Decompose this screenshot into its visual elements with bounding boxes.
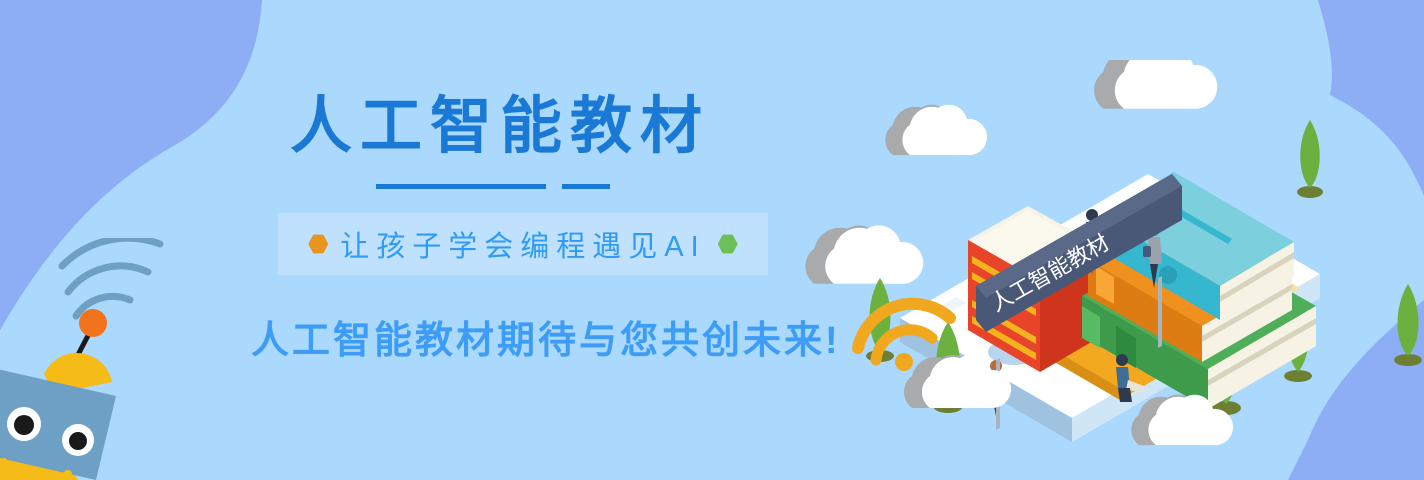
robot-antenna-ball [79, 309, 107, 337]
tree-icon [1284, 298, 1312, 382]
robot-face [0, 366, 116, 480]
device-platform [900, 174, 1320, 442]
cloud-icon [805, 225, 923, 283]
robot-icon [0, 238, 232, 480]
hexagon-icon [718, 234, 738, 254]
cloud-icon [885, 105, 987, 155]
wave-top-right [1318, 0, 1424, 196]
robot-mouth [4, 462, 68, 480]
page-title: 人工智能教材 [290, 96, 710, 158]
headline-block: 人工智能教材 让孩子学会编程遇见AI 人工智能教材期待与您共创未来! [0, 0, 1060, 480]
background-waves [0, 0, 1424, 480]
cloud-icon [1094, 60, 1217, 109]
tree-icon [933, 322, 963, 413]
wifi-icon [858, 304, 950, 371]
person-figure [1116, 354, 1144, 402]
robot-eye [7, 407, 41, 441]
signboard-text: 人工智能教材 [986, 230, 1113, 317]
signboard: 人工智能教材 [976, 174, 1182, 430]
tree-icon [1394, 284, 1422, 366]
person-figure [1143, 224, 1162, 288]
hexagon-icon [308, 234, 328, 254]
subtitle-banner: 让孩子学会编程遇见AI [278, 213, 768, 275]
robot-eye [62, 424, 94, 456]
wave-bottom-right [1288, 300, 1424, 480]
robot-signal-icon [62, 238, 160, 316]
title-divider-short [562, 184, 610, 189]
robot-antenna [70, 328, 92, 370]
title-divider-long [376, 184, 546, 189]
wave-top-left [0, 0, 262, 330]
robot-body [0, 428, 78, 480]
subtitle-text: 让孩子学会编程遇见AI [340, 223, 705, 265]
person-figure [990, 360, 1004, 416]
isometric-illustration: 人工智能教材 [800, 60, 1424, 480]
book-stack [1082, 172, 1316, 409]
tree-icon [1211, 324, 1241, 415]
tagline-text: 人工智能教材期待与您共创未来! [251, 322, 841, 360]
cloud-icon [904, 355, 1011, 408]
robot-head-dome [44, 353, 112, 394]
tree-icon [866, 278, 894, 362]
cloud-icon [1131, 395, 1233, 445]
ai-textbook-promo-banner: 人工智能教材 [0, 0, 1424, 480]
background-fill [0, 0, 1424, 480]
person-figure [1086, 209, 1113, 274]
book-icon [968, 206, 1100, 372]
tree-icon [1297, 120, 1323, 198]
